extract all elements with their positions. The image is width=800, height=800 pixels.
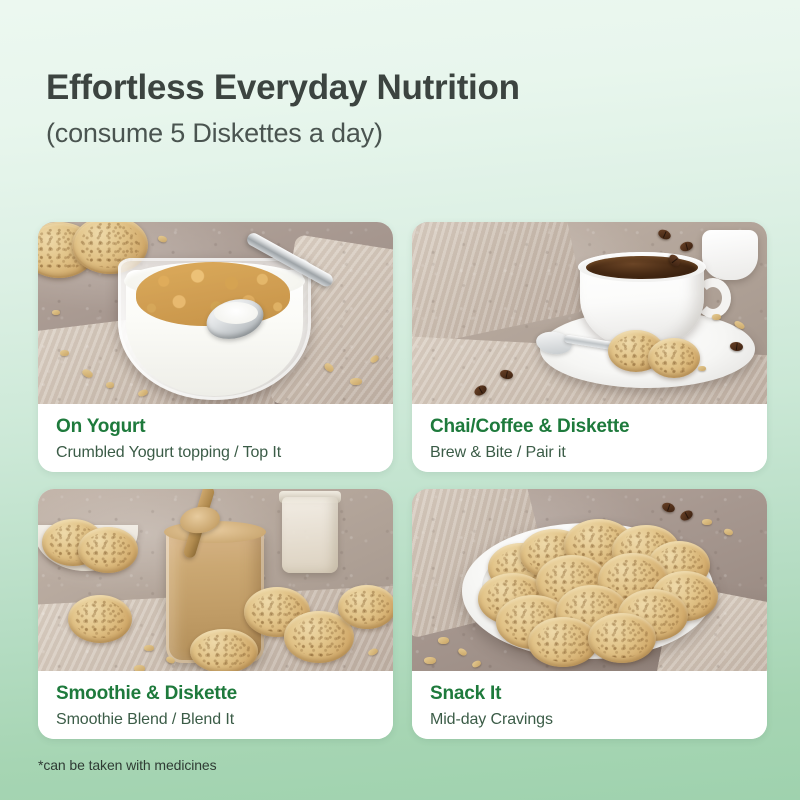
card-on-yogurt[interactable]: On Yogurt Crumbled Yogurt topping / Top … (38, 222, 393, 472)
card-chai-coffee-diskette[interactable]: Chai/Coffee & Diskette Brew & Bite / Pai… (412, 222, 767, 472)
card-smoothie-diskette[interactable]: Smoothie & Diskette Smoothie Blend / Ble… (38, 489, 393, 739)
caption-smoothie-diskette: Smoothie & Diskette Smoothie Blend / Ble… (38, 671, 393, 739)
card-title: On Yogurt (56, 416, 375, 439)
photo-chai-coffee-diskette (412, 222, 767, 404)
card-title: Snack It (430, 683, 749, 706)
card-subtitle: Crumbled Yogurt topping / Top It (56, 443, 375, 463)
card-title: Smoothie & Diskette (56, 683, 375, 706)
caption-chai-coffee-diskette: Chai/Coffee & Diskette Brew & Bite / Pai… (412, 404, 767, 472)
footnote: *can be taken with medicines (38, 757, 217, 773)
caption-on-yogurt: On Yogurt Crumbled Yogurt topping / Top … (38, 404, 393, 472)
usage-card-grid: On Yogurt Crumbled Yogurt topping / Top … (38, 222, 762, 739)
card-snack-it[interactable]: Snack It Mid-day Cravings (412, 489, 767, 739)
header: Effortless Everyday Nutrition (consume 5… (46, 68, 520, 149)
page-subtitle: (consume 5 Diskettes a day) (46, 119, 520, 149)
photo-snack-it (412, 489, 767, 671)
card-subtitle: Mid-day Cravings (430, 710, 749, 730)
card-subtitle: Smoothie Blend / Blend It (56, 710, 375, 730)
page-title: Effortless Everyday Nutrition (46, 68, 520, 107)
caption-snack-it: Snack It Mid-day Cravings (412, 671, 767, 739)
photo-smoothie-diskette (38, 489, 393, 671)
card-title: Chai/Coffee & Diskette (430, 416, 749, 439)
photo-on-yogurt (38, 222, 393, 404)
card-subtitle: Brew & Bite / Pair it (430, 443, 749, 463)
